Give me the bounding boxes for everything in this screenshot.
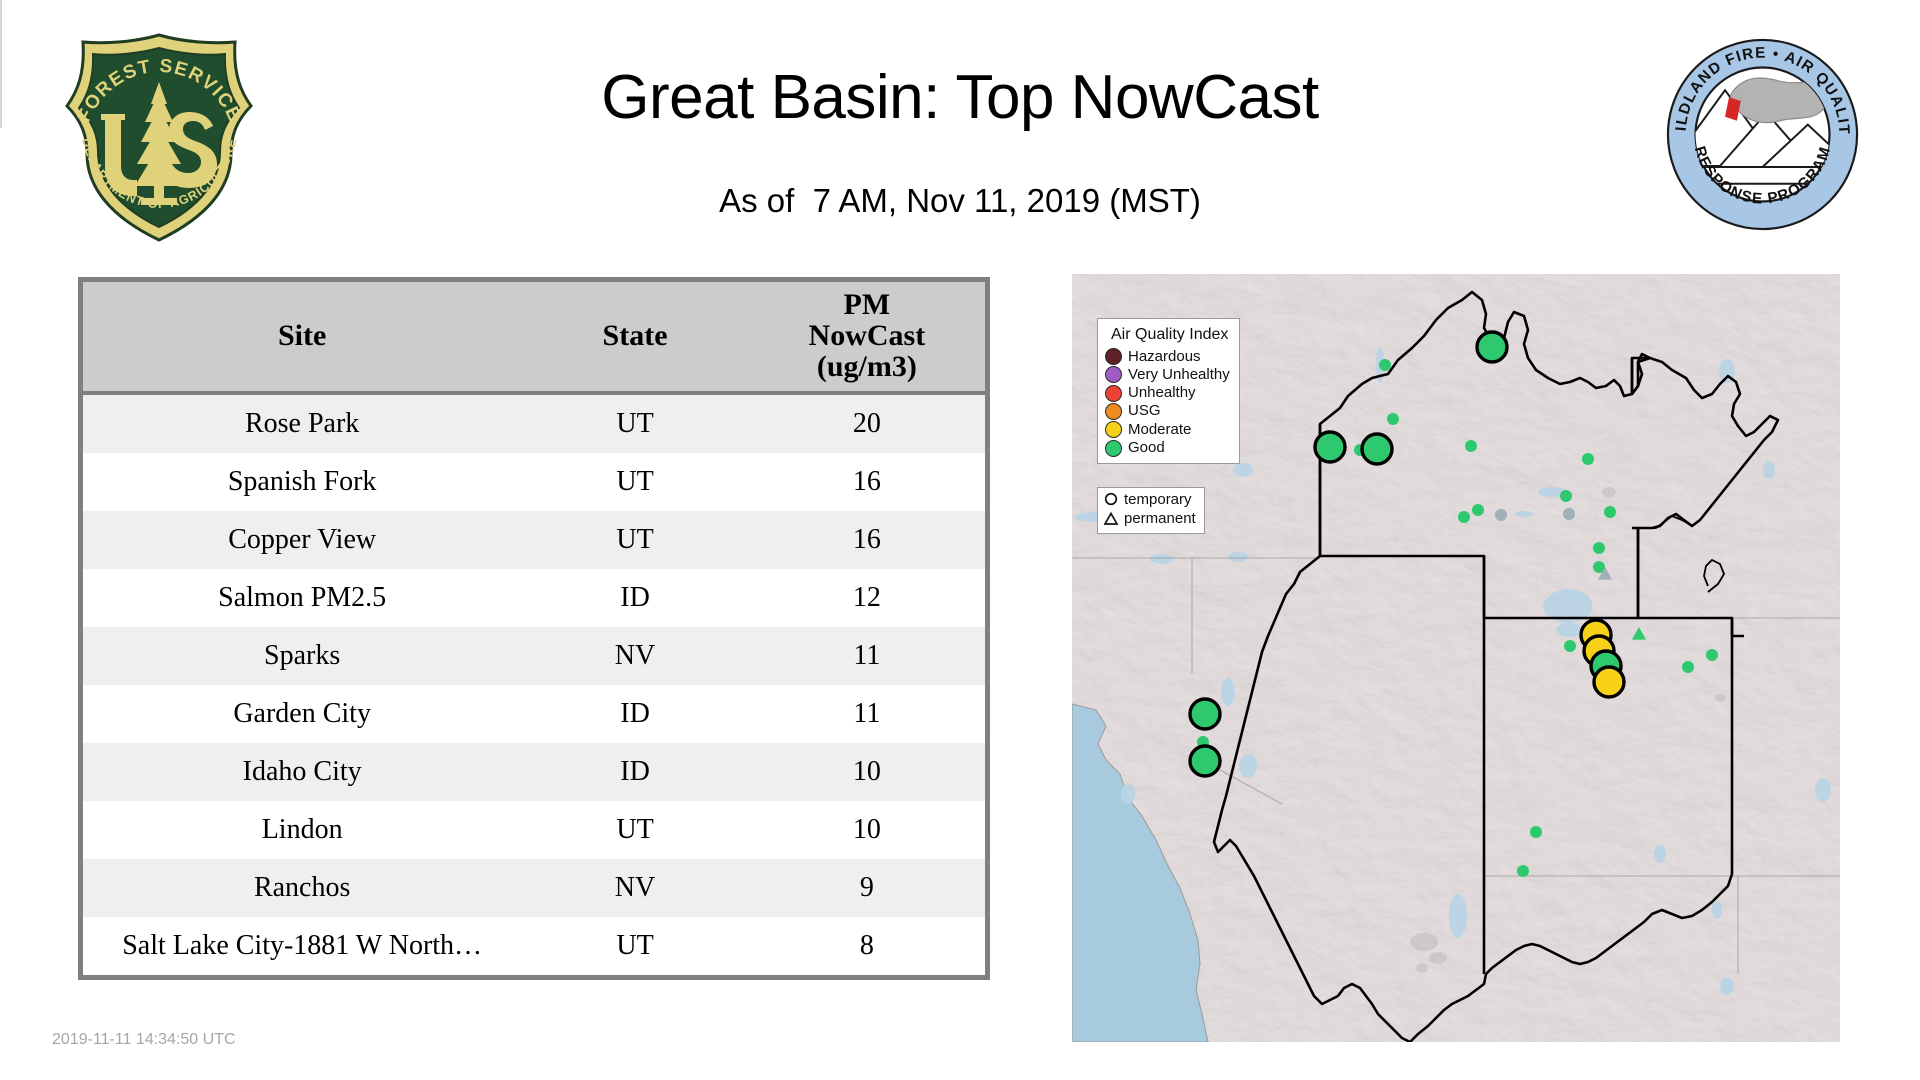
site-cell: Ranchos <box>83 859 521 917</box>
table-row[interactable]: Copper ViewUT16 <box>83 511 985 569</box>
site-cell: Salmon PM2.5 <box>83 569 521 627</box>
aqi-swatch-icon <box>1105 385 1122 402</box>
table-header-row: Site State PM NowCast (ug/m3) <box>83 282 985 393</box>
pm-header-line-2: NowCast <box>753 321 981 352</box>
aqi-swatch-icon <box>1105 348 1122 365</box>
generation-timestamp: 2019-11-11 14:34:50 UTC <box>52 1031 236 1049</box>
legend-row-usg: USG <box>1105 402 1230 420</box>
state-cell: UT <box>521 801 748 859</box>
pm-header-line-3: (ug/m3) <box>753 352 981 383</box>
state-cell: NV <box>521 627 748 685</box>
monitor-dot[interactable] <box>1387 413 1399 425</box>
page-title: Great Basin: Top NowCast <box>360 62 1560 133</box>
aqi-swatch-icon <box>1105 440 1122 457</box>
site-cell: Spanish Fork <box>83 453 521 511</box>
legend-label: Very Unhealthy <box>1128 366 1230 384</box>
top-nowcast-table-container: Site State PM NowCast (ug/m3) Rose ParkU… <box>78 277 990 980</box>
legend-label: Good <box>1128 439 1165 457</box>
legend-row-temporary: temporary <box>1103 491 1196 510</box>
monitor-dot[interactable] <box>1465 440 1477 452</box>
pm-cell: 11 <box>749 685 985 743</box>
state-cell: UT <box>521 917 748 975</box>
table-row[interactable]: Salt Lake City-1881 W North…UT8 <box>83 917 985 975</box>
site-cell: Garden City <box>83 685 521 743</box>
legend-monitor-type: temporary permanent <box>1097 487 1205 534</box>
table-row[interactable]: LindonUT10 <box>83 801 985 859</box>
site-cell: Idaho City <box>83 743 521 801</box>
monitor-marker-highlighted[interactable] <box>1315 432 1345 462</box>
legend-row-moderate: Moderate <box>1105 421 1230 439</box>
legend-row-unhealthy: Unhealthy <box>1105 384 1230 402</box>
state-cell: ID <box>521 743 748 801</box>
table-row[interactable]: Spanish ForkUT16 <box>83 453 985 511</box>
legend-row-good: Good <box>1105 439 1230 457</box>
site-cell: Lindon <box>83 801 521 859</box>
site-cell: Sparks <box>83 627 521 685</box>
wfaqrp-seal-logo: WILDLAND FIRE • AIR QUALITY RESPONSE PRO… <box>1664 36 1861 233</box>
monitor-dot[interactable] <box>1582 453 1594 465</box>
monitor-dot[interactable] <box>1379 359 1391 371</box>
aqi-swatch-icon <box>1105 421 1122 438</box>
monitor-dot[interactable] <box>1458 511 1470 523</box>
legend-title: Air Quality Index <box>1111 325 1230 345</box>
monitor-dot[interactable] <box>1604 506 1616 518</box>
legend-label-temporary: temporary <box>1124 491 1192 510</box>
table-row[interactable]: Salmon PM2.5ID12 <box>83 569 985 627</box>
monitor-dot[interactable] <box>1564 640 1576 652</box>
legend-label-permanent: permanent <box>1124 510 1196 529</box>
state-cell: ID <box>521 569 748 627</box>
pm-header-line-1: PM <box>753 290 981 321</box>
legend-row-hazardous: Hazardous <box>1105 348 1230 366</box>
pm-cell: 9 <box>749 859 985 917</box>
monitor-dot[interactable] <box>1495 509 1507 521</box>
legend-label: Unhealthy <box>1128 384 1196 402</box>
pm-cell: 11 <box>749 627 985 685</box>
site-cell: Rose Park <box>83 393 521 453</box>
monitor-marker-highlighted[interactable] <box>1190 746 1220 776</box>
pm-cell: 16 <box>749 453 985 511</box>
column-header-pm-nowcast[interactable]: PM NowCast (ug/m3) <box>749 282 985 393</box>
monitor-dot[interactable] <box>1593 542 1605 554</box>
table-row[interactable]: Idaho CityID10 <box>83 743 985 801</box>
state-cell: UT <box>521 511 748 569</box>
top-nowcast-table: Site State PM NowCast (ug/m3) Rose ParkU… <box>83 282 985 975</box>
table-row[interactable]: Rose ParkUT20 <box>83 393 985 453</box>
legend-air-quality-index: Air Quality Index HazardousVery Unhealth… <box>1097 318 1240 464</box>
pm-cell: 10 <box>749 801 985 859</box>
state-cell: UT <box>521 393 748 453</box>
legend-label: Hazardous <box>1128 348 1201 366</box>
table-body: Rose ParkUT20Spanish ForkUT16Copper View… <box>83 393 985 975</box>
table-row[interactable]: SparksNV11 <box>83 627 985 685</box>
pm-cell: 12 <box>749 569 985 627</box>
pm-cell: 8 <box>749 917 985 975</box>
usfs-shield-logo: FOREST SERVICE DEPARTMENT OF AGRICULTURE <box>57 30 262 245</box>
aqi-swatch-icon <box>1105 366 1122 383</box>
left-edge-artifact <box>0 0 2 128</box>
column-header-state[interactable]: State <box>521 282 748 393</box>
legend-label: USG <box>1128 402 1161 420</box>
monitor-dot[interactable] <box>1682 661 1694 673</box>
aqi-swatch-icon <box>1105 403 1122 420</box>
table-row[interactable]: Garden CityID11 <box>83 685 985 743</box>
state-cell: UT <box>521 453 748 511</box>
circle-icon <box>1103 492 1119 508</box>
triangle-icon <box>1103 511 1119 527</box>
legend-label: Moderate <box>1128 421 1191 439</box>
pm-cell: 10 <box>749 743 985 801</box>
column-header-site[interactable]: Site <box>83 282 521 393</box>
legend-row-very-unhealthy: Very Unhealthy <box>1105 366 1230 384</box>
monitor-dot[interactable] <box>1706 649 1718 661</box>
monitor-dot[interactable] <box>1517 865 1529 877</box>
page-subtitle: As of 7 AM, Nov 11, 2019 (MST) <box>360 182 1560 220</box>
monitor-dot[interactable] <box>1560 490 1572 502</box>
monitor-marker-highlighted[interactable] <box>1477 332 1507 362</box>
pm-cell: 16 <box>749 511 985 569</box>
monitor-marker-highlighted[interactable] <box>1362 434 1392 464</box>
state-cell: NV <box>521 859 748 917</box>
monitor-dot[interactable] <box>1472 504 1484 516</box>
monitor-marker-highlighted[interactable] <box>1594 667 1624 697</box>
pm-cell: 20 <box>749 393 985 453</box>
monitor-dot[interactable] <box>1530 826 1542 838</box>
legend-row-permanent: permanent <box>1103 510 1196 529</box>
table-row[interactable]: RanchosNV9 <box>83 859 985 917</box>
monitor-marker-highlighted[interactable] <box>1190 699 1220 729</box>
site-cell: Copper View <box>83 511 521 569</box>
site-cell: Salt Lake City-1881 W North… <box>83 917 521 975</box>
monitor-dot[interactable] <box>1563 508 1575 520</box>
state-cell: ID <box>521 685 748 743</box>
